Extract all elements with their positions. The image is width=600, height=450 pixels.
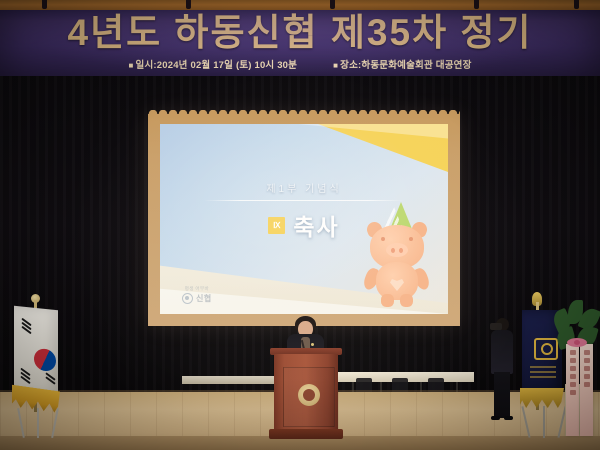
pig-eye-left <box>381 237 385 241</box>
ribbon-char <box>570 390 576 395</box>
podium-body <box>274 354 338 430</box>
ribbon-text <box>566 350 579 395</box>
tripod-leg <box>17 408 24 438</box>
banner-clip <box>42 0 47 9</box>
photographer-shoe <box>504 416 513 420</box>
logo-tagline: 평생 어부바 <box>185 286 209 292</box>
korean-flag-cloth <box>14 306 58 397</box>
photographer-shoe <box>491 416 500 420</box>
banner-clip <box>186 0 191 9</box>
ribbon-banner-right <box>580 344 593 436</box>
korean-flag-stand <box>6 296 68 442</box>
pig-leg-right <box>400 294 413 307</box>
camera-icon <box>490 323 502 330</box>
podium-emblem-icon <box>298 384 320 406</box>
slide-title: 축사 <box>293 208 339 242</box>
tripod-leg <box>521 406 530 438</box>
ribbon-char <box>584 358 590 363</box>
banner-place-text: 장소:하동문화예술회관 대공연장 <box>340 57 471 71</box>
pig-nostril-left <box>391 248 395 253</box>
ribbon-bow-icon <box>567 338 587 347</box>
pig-eye-right <box>409 237 413 241</box>
photo-scene: 4년도 하동신협 제35차 정기 ■일시:2024년 02월 17일 (토) 1… <box>0 0 600 450</box>
slide-badge: Ⅸ <box>268 217 285 234</box>
logo-mark-icon <box>182 293 193 304</box>
bullet-icon: ■ <box>333 61 338 70</box>
screen-valance <box>148 110 460 118</box>
pig-snout <box>386 243 408 257</box>
tripod-leg <box>543 406 545 438</box>
projection-screen: 제1부 기념식 Ⅸ 축사 <box>160 124 448 314</box>
logo-row: 신협 <box>182 293 212 304</box>
ribbon-char <box>570 382 576 387</box>
tripod-leg <box>51 408 58 438</box>
ribbon-char <box>584 366 590 371</box>
projection-screen-frame: 제1부 기념식 Ⅸ 축사 <box>148 114 460 326</box>
banner-place: ■장소:하동문화예술회관 대공연장 <box>333 57 471 71</box>
banner-clip <box>330 0 335 9</box>
logo-name: 신협 <box>196 293 212 304</box>
bullet-icon: ■ <box>128 61 133 70</box>
podium <box>272 348 340 440</box>
ribbon-text <box>580 350 593 387</box>
banner-clip <box>574 0 579 9</box>
banner-subline: ■일시:2024년 02월 17일 (토) 10시 30분 ■장소:하동문화예술… <box>0 57 600 71</box>
banner-clip <box>474 0 479 9</box>
photographer <box>488 318 518 422</box>
banner-date: ■일시:2024년 02월 17일 (토) 10시 30분 <box>128 57 297 71</box>
ribbon-char <box>570 350 576 355</box>
pig-leg-left <box>381 294 394 307</box>
background-table-left <box>182 376 278 384</box>
ribbon-char <box>584 374 590 379</box>
pig-nostril-right <box>399 248 403 253</box>
banner-title: 4년도 하동신협 제35차 정기 <box>0 12 600 54</box>
emblem-core <box>303 389 315 401</box>
pig-mascot-icon <box>360 202 434 306</box>
congratulatory-flower-stand <box>552 300 600 448</box>
ribbon-char <box>570 374 576 379</box>
tripod-leg <box>37 408 39 438</box>
ribbon-banner-left <box>566 344 579 436</box>
shinhyup-logo: 평생 어부바 신협 <box>182 286 212 304</box>
taeguk-icon <box>30 346 59 374</box>
ribbon-char <box>584 382 590 387</box>
event-banner: 4년도 하동신협 제35차 정기 ■일시:2024년 02월 17일 (토) 1… <box>0 10 600 76</box>
ribbon-char <box>584 350 590 355</box>
lapel-pin-icon <box>311 343 314 346</box>
photographer-body <box>491 330 513 374</box>
podium-base <box>269 429 343 439</box>
ribbon-char <box>570 358 576 363</box>
ribbon-char <box>570 366 576 371</box>
banner-date-text: 일시:2024년 02월 17일 (토) 10시 30분 <box>136 57 298 71</box>
photographer-legs <box>494 372 510 418</box>
slide-subtitle: 제1부 기념식 <box>160 180 448 195</box>
slide-divider <box>204 200 404 201</box>
flag-tripod <box>18 408 58 438</box>
